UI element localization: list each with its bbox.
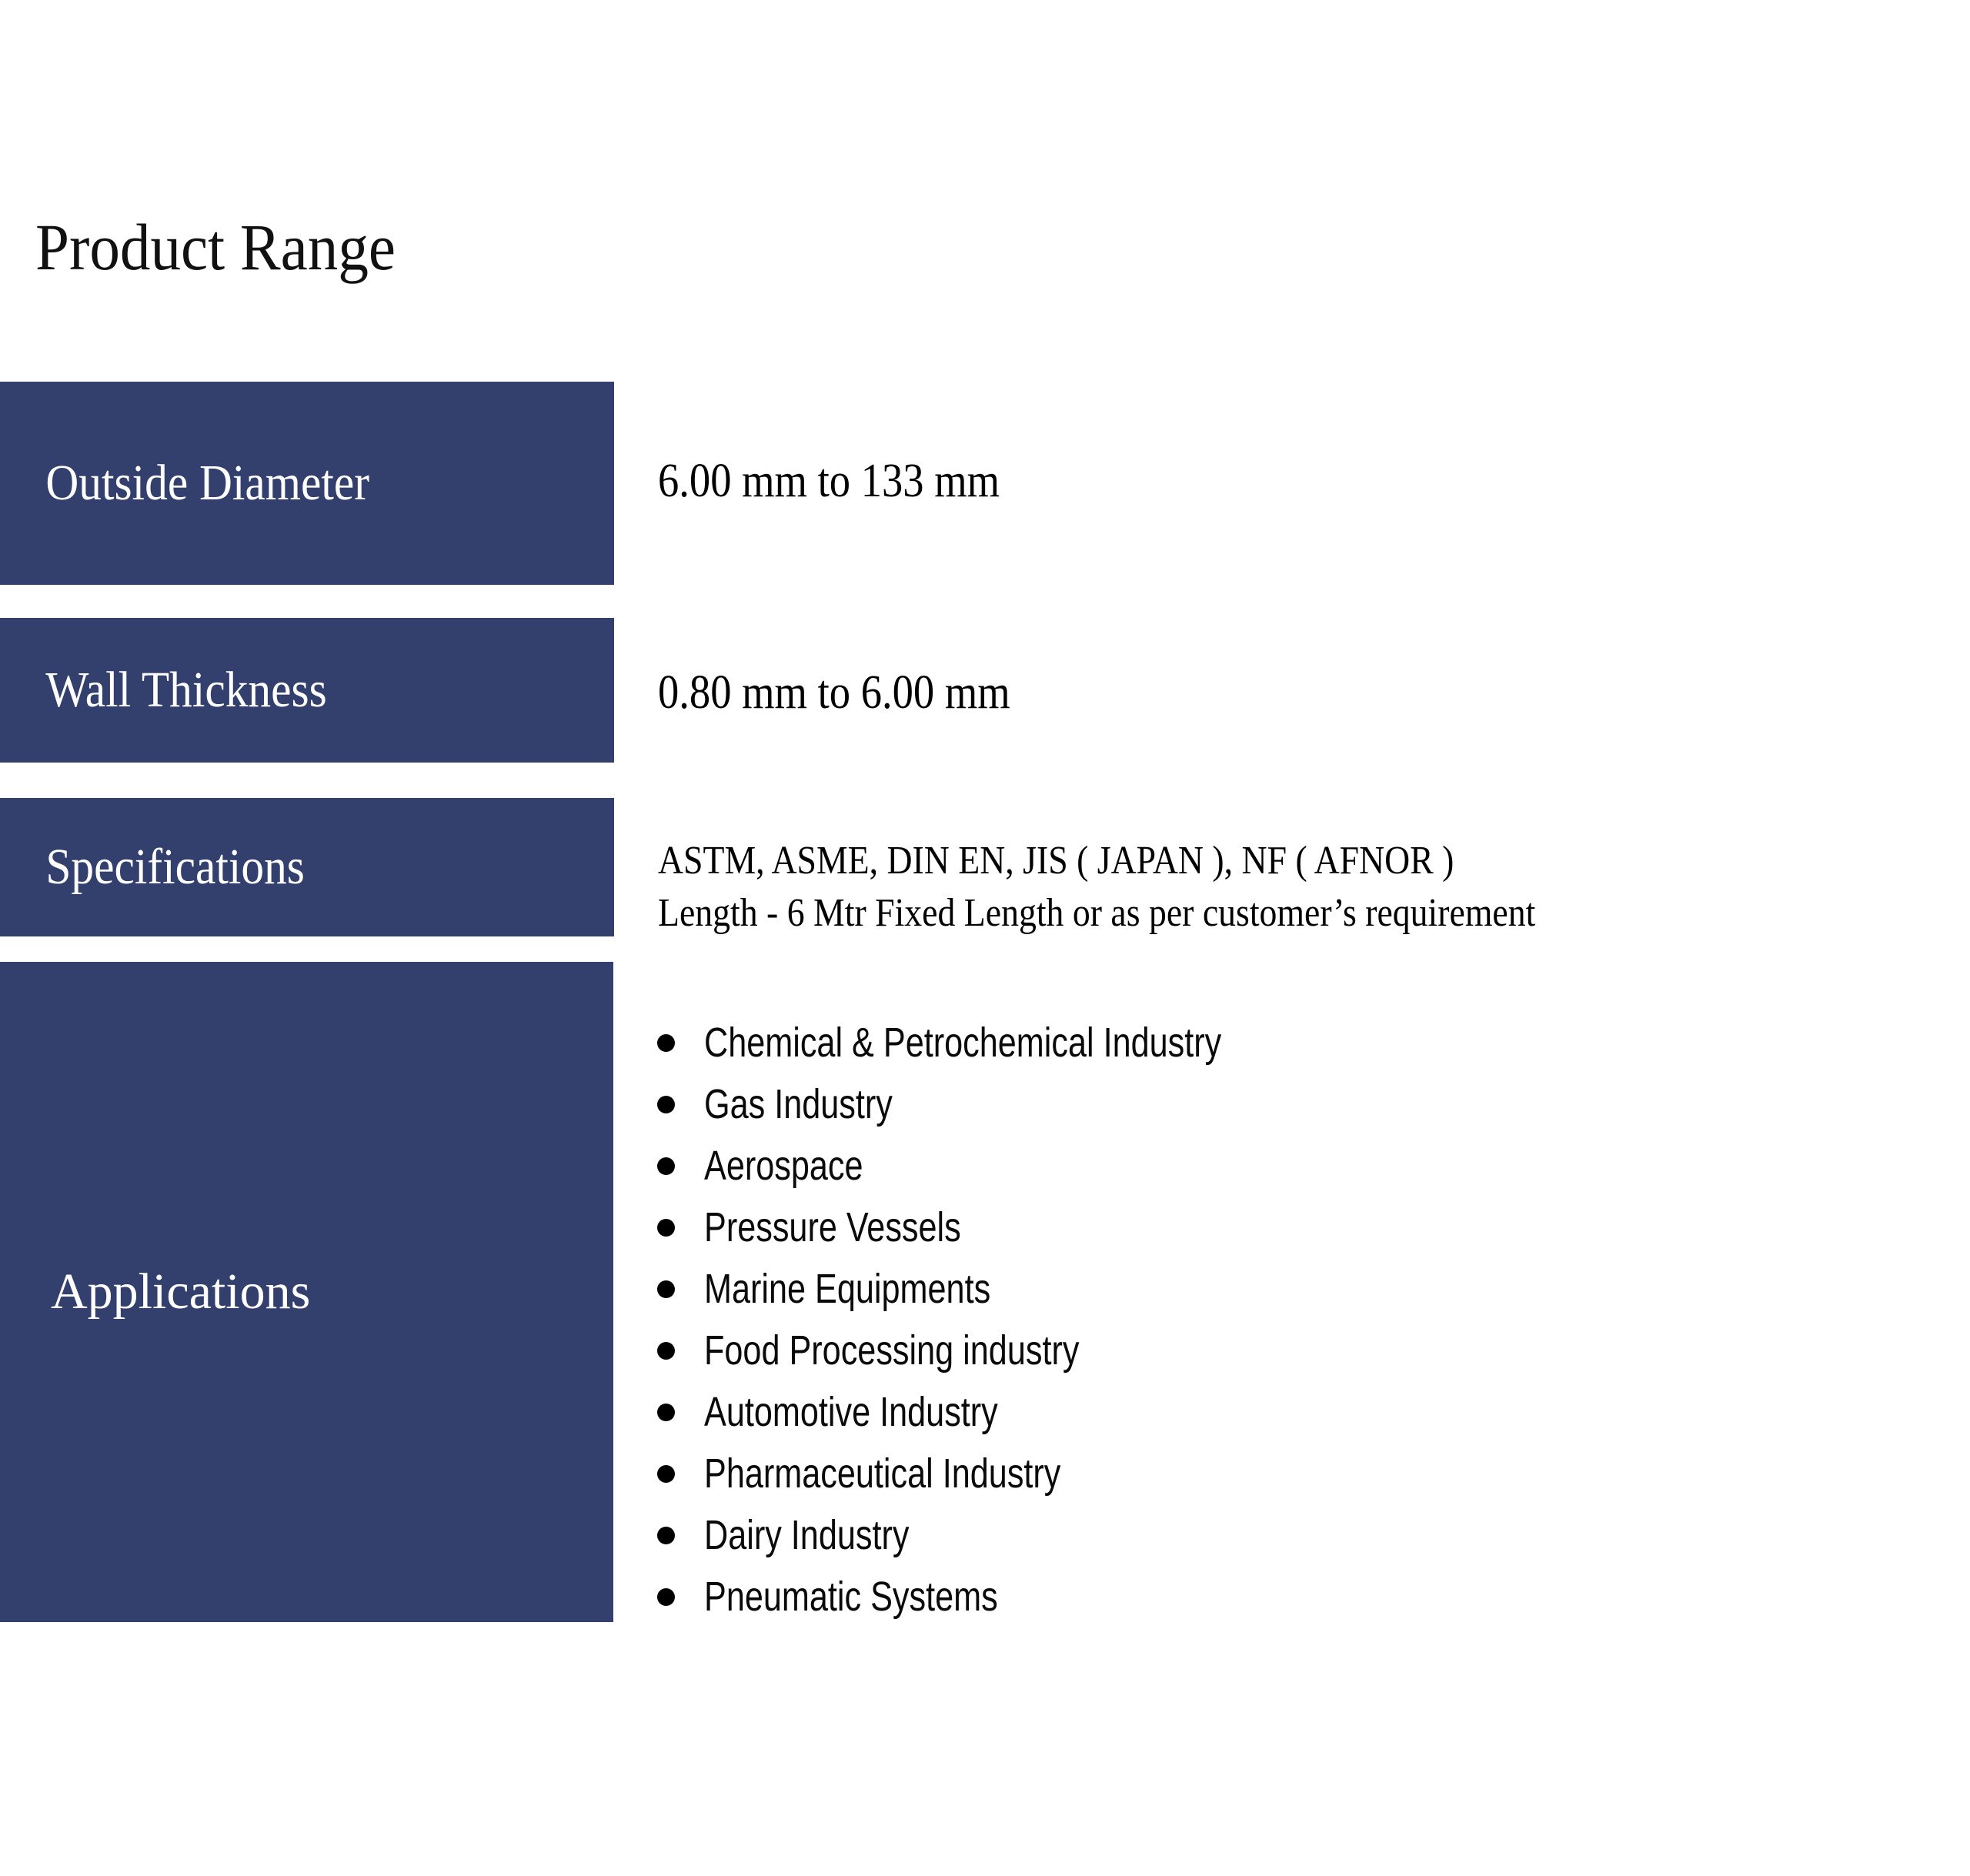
- list-item: Chemical & Petrochemical Industry: [653, 1012, 1351, 1073]
- bullet-dot-icon: [657, 1157, 675, 1175]
- product-range-page: Product Range Outside Diameter 6.00 mm t…: [0, 0, 1970, 1876]
- label-specifications: Specifications: [0, 840, 305, 893]
- value-outside-diameter: 6.00 mm to 133 mm: [658, 454, 1000, 509]
- list-item: Pneumatic Systems: [653, 1566, 1351, 1627]
- label-wall-thickness: Wall Thickness: [0, 663, 327, 716]
- application-label: Automotive Industry: [704, 1391, 998, 1433]
- bullet-dot-icon: [657, 1404, 675, 1421]
- bullet-dot-icon: [657, 1465, 675, 1483]
- list-item: Pharmaceutical Industry: [653, 1443, 1351, 1504]
- value-cell-specifications: ASTM, ASME, DIN EN, JIS ( JAPAN ), NF ( …: [658, 835, 1655, 939]
- page-title: Product Range: [35, 214, 396, 280]
- value-wall-thickness: 0.80 mm to 6.00 mm: [658, 666, 1010, 720]
- label-block-applications: Applications: [0, 962, 613, 1622]
- label-outside-diameter: Outside Diameter: [0, 456, 369, 509]
- application-label: Food Processing industry: [704, 1330, 1079, 1371]
- application-label: Chemical & Petrochemical Industry: [704, 1022, 1221, 1063]
- list-item: Aerospace: [653, 1135, 1351, 1197]
- list-item: Food Processing industry: [653, 1320, 1351, 1381]
- bullet-dot-icon: [657, 1342, 675, 1360]
- value-cell-wall-thickness: 0.80 mm to 6.00 mm: [658, 666, 1058, 720]
- application-label: Pressure Vessels: [704, 1207, 961, 1248]
- bullet-dot-icon: [657, 1034, 675, 1052]
- list-item: Gas Industry: [653, 1073, 1351, 1135]
- application-label: Gas Industry: [704, 1083, 893, 1125]
- application-label: Pneumatic Systems: [704, 1576, 998, 1617]
- list-item: Marine Equipments: [653, 1258, 1351, 1320]
- label-block-outside-diameter: Outside Diameter: [0, 382, 614, 585]
- bullet-dot-icon: [657, 1219, 675, 1237]
- application-label: Marine Equipments: [704, 1268, 990, 1310]
- bullet-dot-icon: [657, 1527, 675, 1544]
- label-applications: Applications: [0, 1265, 310, 1318]
- list-item: Dairy Industry: [653, 1504, 1351, 1566]
- application-label: Aerospace: [704, 1145, 863, 1187]
- value-specifications-standards: ASTM, ASME, DIN EN, JIS ( JAPAN ), NF ( …: [658, 835, 1535, 887]
- bullet-dot-icon: [657, 1588, 675, 1606]
- application-label: Pharmaceutical Industry: [704, 1453, 1060, 1494]
- value-specifications-length: Length - 6 Mtr Fixed Length or as per cu…: [658, 887, 1535, 940]
- list-item: Pressure Vessels: [653, 1197, 1351, 1258]
- applications-list: Chemical & Petrochemical Industry Gas In…: [653, 1012, 1351, 1627]
- bullet-dot-icon: [657, 1096, 675, 1113]
- label-block-wall-thickness: Wall Thickness: [0, 618, 614, 763]
- list-item: Automotive Industry: [653, 1381, 1351, 1443]
- application-label: Dairy Industry: [704, 1514, 909, 1556]
- bullet-dot-icon: [657, 1280, 675, 1298]
- label-block-specifications: Specifications: [0, 798, 614, 936]
- value-cell-outside-diameter: 6.00 mm to 133 mm: [658, 454, 1047, 509]
